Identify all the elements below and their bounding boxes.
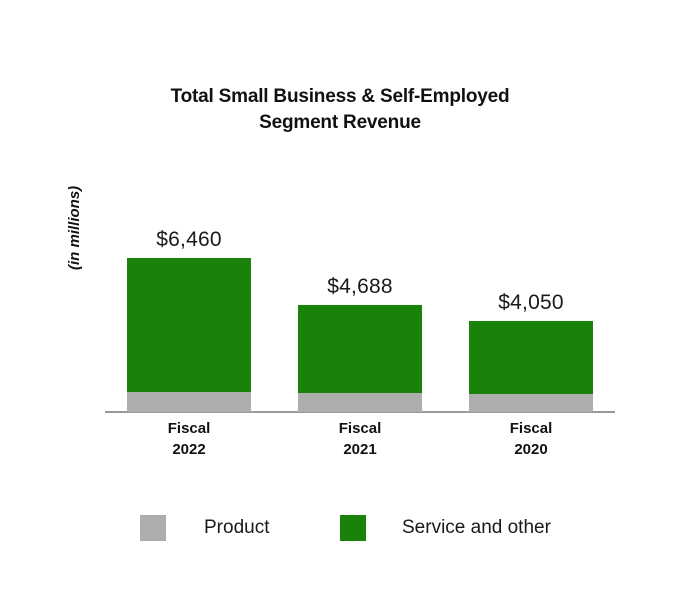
bar-segment-product-fiscal-2020[interactable]: [469, 394, 593, 412]
category-label-fiscal-2021: Fiscal 2021: [339, 418, 382, 460]
legend-swatch-product-icon: [140, 515, 166, 541]
legend-item-service-and-other[interactable]: Service and other: [340, 514, 551, 542]
legend-label-service-and-other: Service and other: [402, 517, 551, 539]
category-label-fiscal-2022-line-2: 2022: [168, 439, 211, 460]
category-label-fiscal-2022: Fiscal 2022: [168, 418, 211, 460]
revenue-bar-chart: Total Small Business & Self-Employed Seg…: [0, 0, 680, 612]
bar-segment-service-fiscal-2022[interactable]: [127, 258, 251, 392]
bar-segment-product-fiscal-2022[interactable]: [127, 392, 251, 412]
bar-group-fiscal-2021: $4,688 Fiscal 2021: [298, 305, 422, 412]
bar-stack-fiscal-2020: [469, 321, 593, 412]
bar-segment-service-fiscal-2020[interactable]: [469, 321, 593, 394]
bar-group-fiscal-2022: $6,460 Fiscal 2022: [127, 258, 251, 412]
bar-total-label-fiscal-2020: $4,050: [498, 291, 563, 315]
bar-total-label-fiscal-2021: $4,688: [327, 275, 392, 299]
bar-stack-fiscal-2022: [127, 258, 251, 412]
bar-segment-product-fiscal-2021[interactable]: [298, 393, 422, 412]
legend-label-product: Product: [204, 517, 269, 539]
category-label-fiscal-2020-line-2: 2020: [510, 439, 553, 460]
bar-stack-fiscal-2021: [298, 305, 422, 412]
bar-total-label-fiscal-2022: $6,460: [156, 228, 221, 252]
legend-swatch-service-icon: [340, 515, 366, 541]
category-label-fiscal-2022-line-1: Fiscal: [168, 418, 211, 439]
category-label-fiscal-2021-line-1: Fiscal: [339, 418, 382, 439]
chart-legend: Product Service and other: [0, 514, 680, 554]
category-label-fiscal-2020-line-1: Fiscal: [510, 418, 553, 439]
bar-segment-service-fiscal-2021[interactable]: [298, 305, 422, 393]
legend-item-product[interactable]: Product: [140, 514, 269, 542]
bar-group-fiscal-2020: $4,050 Fiscal 2020: [469, 321, 593, 412]
category-label-fiscal-2021-line-2: 2021: [339, 439, 382, 460]
category-label-fiscal-2020: Fiscal 2020: [510, 418, 553, 460]
